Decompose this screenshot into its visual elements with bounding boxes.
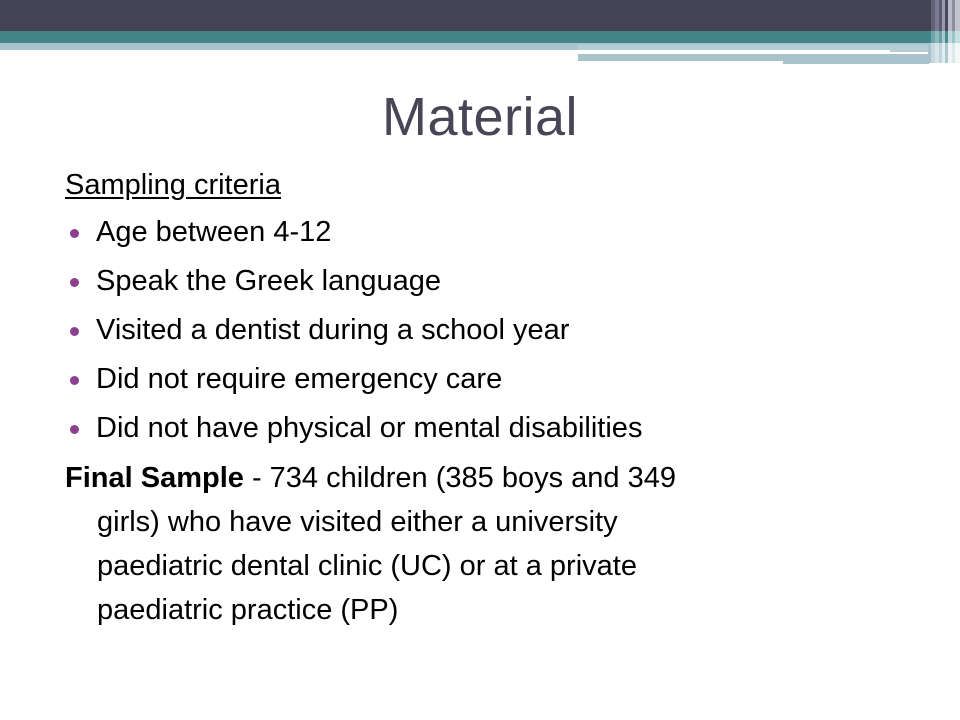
page-title: Material [0,86,960,148]
final-sample-line2: girls) who have visited either a univers… [65,500,875,544]
bullet-icon [70,278,79,287]
list-item-label: Visited a dentist during a school year [96,314,569,346]
final-sample-line1: - 734 children (385 boys and 349 [244,462,676,494]
bullet-icon [70,376,79,385]
final-sample-line4: paediatric practice (PP) [65,588,875,632]
list-item: Did not require emergency care [62,355,902,404]
banner-band-teal [0,31,960,43]
banner-vertical-stripes [928,0,960,72]
bullet-icon [70,425,79,434]
banner-stripe [955,0,960,72]
final-sample-paragraph: Final Sample - 734 children (385 boys an… [62,456,875,632]
bullet-icon [70,229,79,238]
list-item-label: Did not have physical or mental disabili… [96,412,642,444]
bullet-icon [70,327,79,336]
final-sample-line3: paediatric dental clinic (UC) or at a pr… [65,544,875,588]
list-item: Speak the Greek language [62,257,902,306]
final-sample-label: Final Sample [65,462,244,494]
list-item: Age between 4-12 [62,208,902,257]
header-banner [0,0,960,72]
list-item: Did not have physical or mental disabili… [62,404,902,453]
list-item-label: Did not require emergency care [96,363,502,395]
banner-accent-gap-2 [578,61,783,64]
slide: Material Sampling criteria Age between 4… [0,0,960,720]
list-item-label: Age between 4-12 [96,216,331,248]
list-item: Visited a dentist during a school year [62,306,902,355]
list-item-label: Speak the Greek language [96,265,441,297]
section-heading: Sampling criteria [62,168,902,202]
criteria-list: Age between 4-12 Speak the Greek languag… [62,208,902,453]
slide-body: Sampling criteria Age between 4-12 Speak… [62,168,902,632]
banner-accent-light-4 [783,61,929,64]
banner-band-dark [0,0,960,31]
